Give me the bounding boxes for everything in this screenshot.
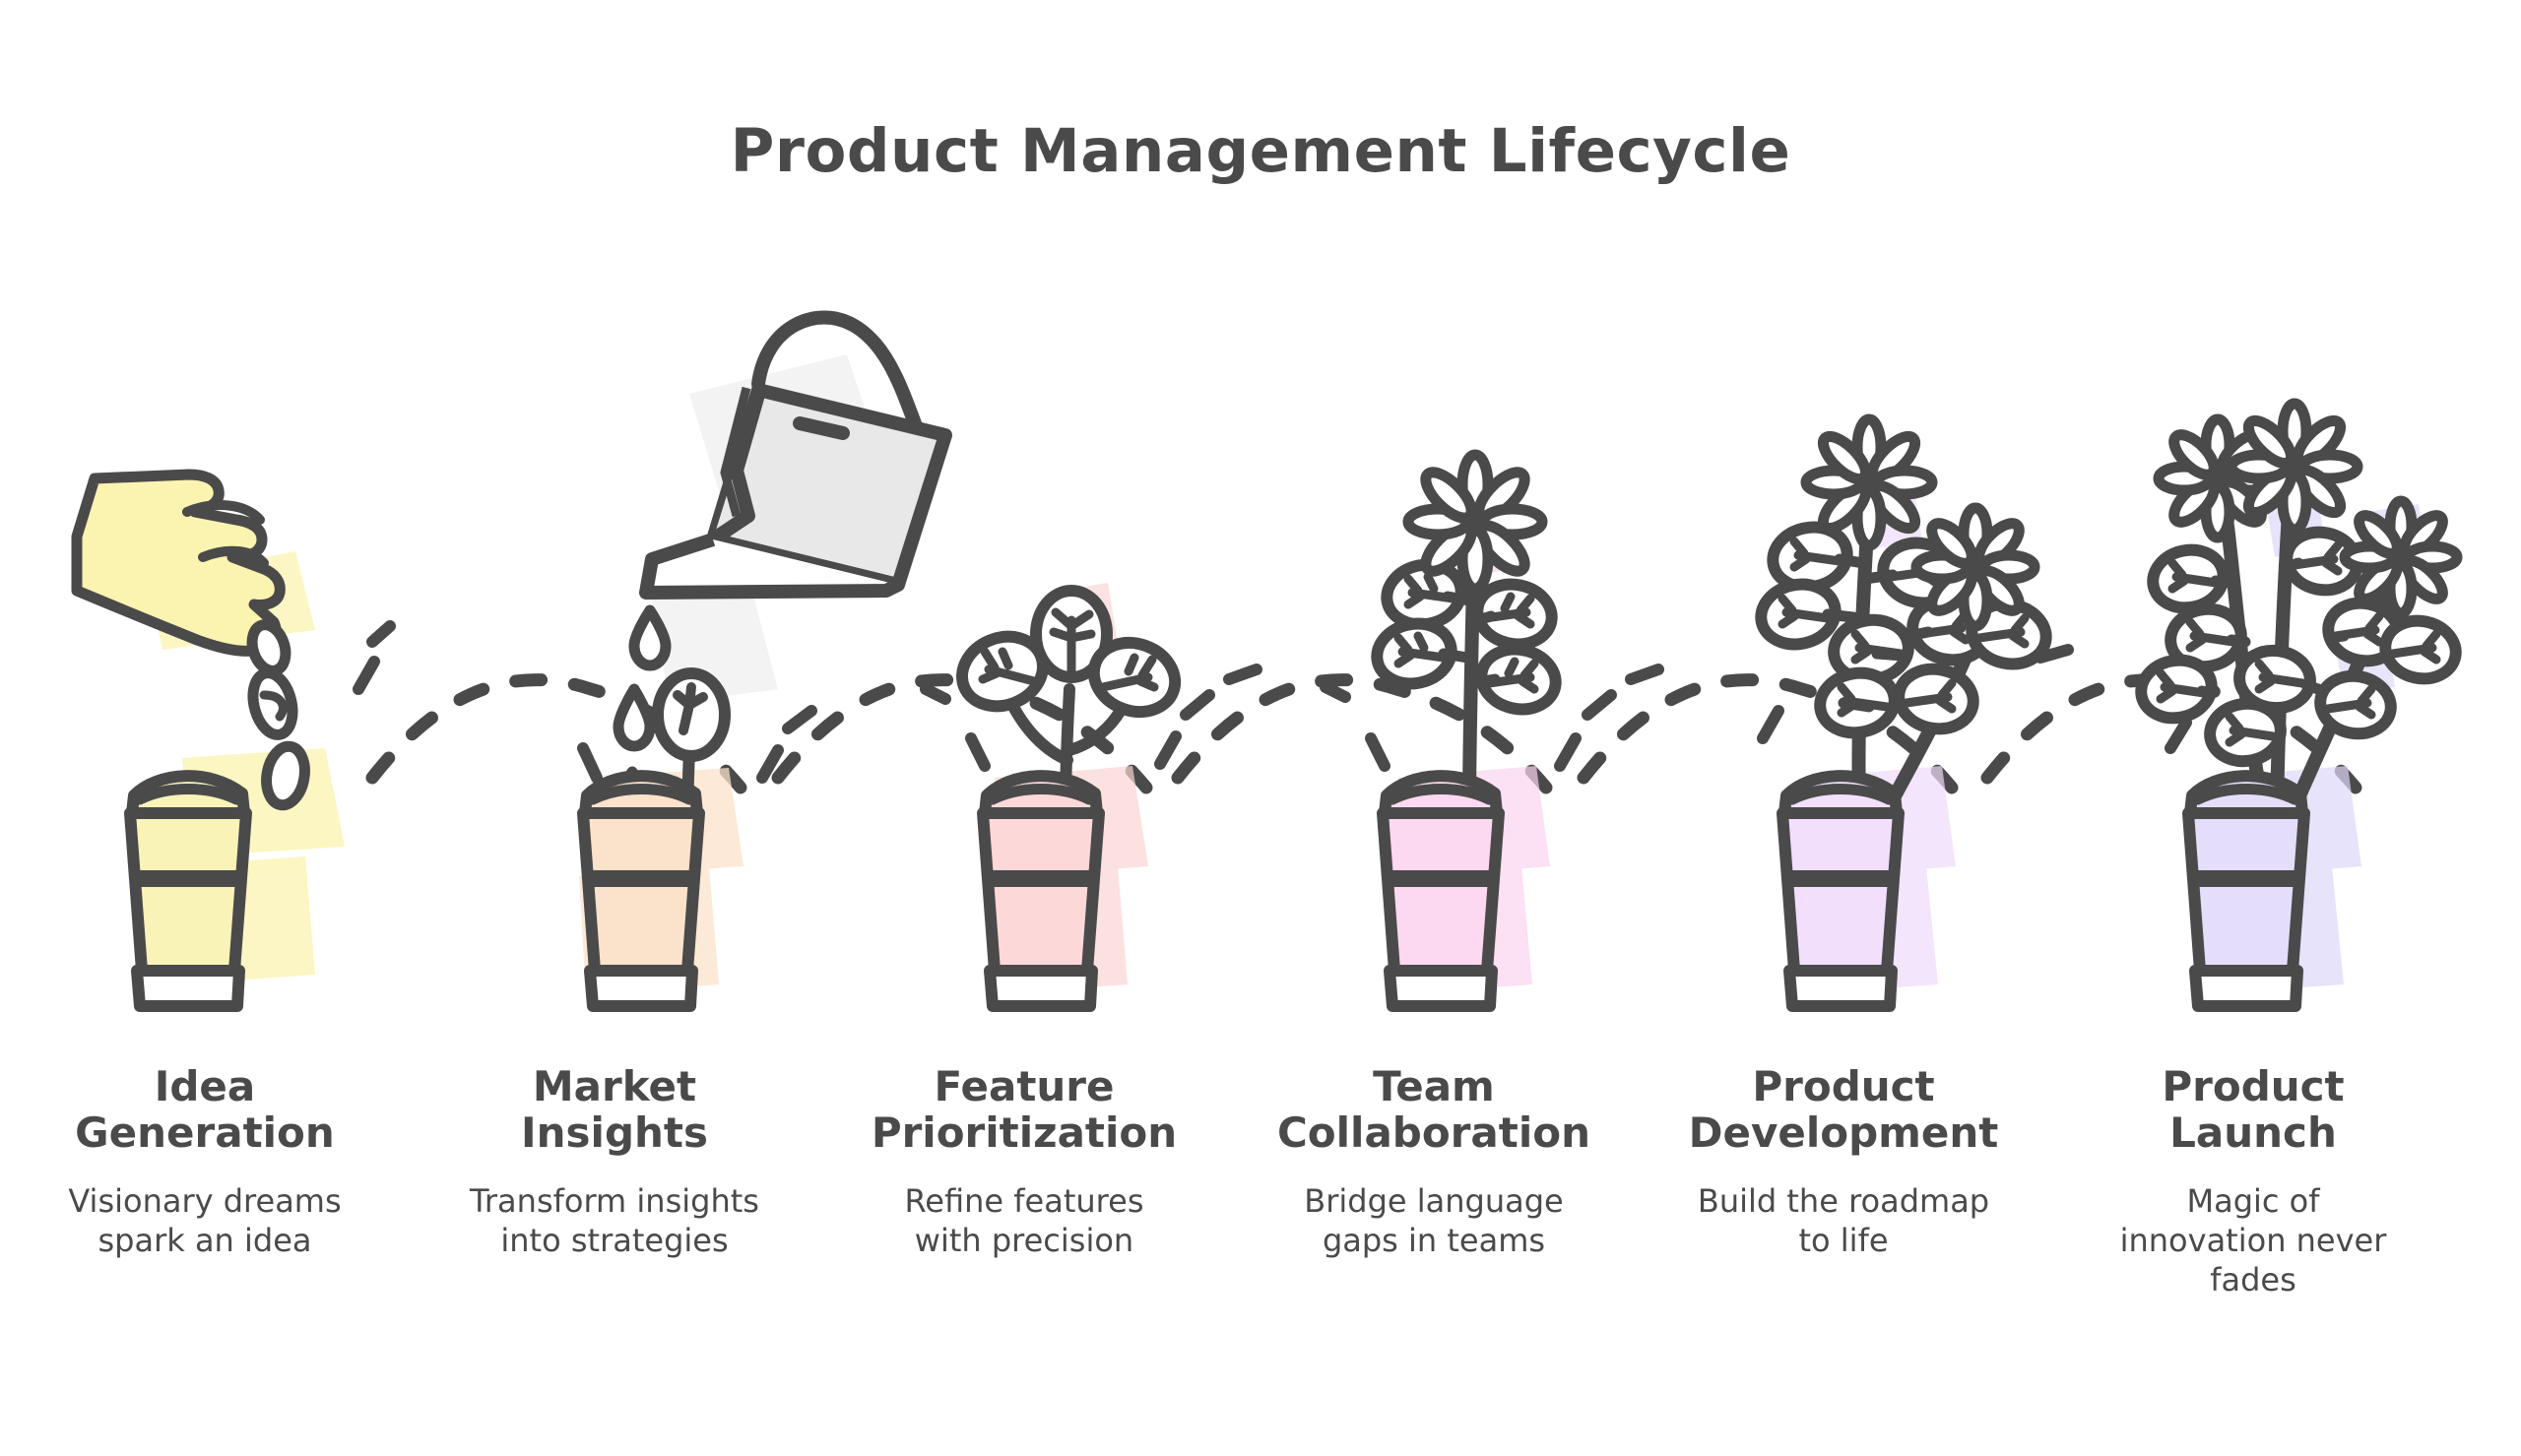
pot-1 <box>130 776 246 1006</box>
stage-description-1: Visionary dreams spark an idea <box>14 1181 396 1260</box>
stage-title-5: Product Development <box>1652 1063 2035 1156</box>
stage-label-4: Team Collaboration Bridge language gaps … <box>1229 1063 1639 1299</box>
stage-description-4: Bridge language gaps in teams <box>1243 1181 1625 1260</box>
pot-3 <box>983 776 1099 1006</box>
flower-icon <box>1408 455 1542 589</box>
stage-6-sparkles <box>2170 723 2186 748</box>
stage-3-illustration <box>926 583 1257 1006</box>
pot-4 <box>1383 776 1499 1006</box>
stage-description-3: Refine features with precision <box>833 1181 1215 1260</box>
stage-label-2: Market Insights Transform insights into … <box>410 1063 819 1299</box>
stage-title-6: Product Launch <box>2062 1063 2444 1156</box>
stage-2-illustration <box>579 318 945 1007</box>
stage-label-1: Idea Generation Visionary dreams spark a… <box>0 1063 410 1299</box>
pot-2 <box>583 776 699 1006</box>
watering-can-icon <box>646 318 945 594</box>
plant-6 <box>2136 404 2461 807</box>
stage-5-illustration <box>1756 419 2068 1006</box>
stage-labels: Idea Generation Visionary dreams spark a… <box>0 1063 2521 1299</box>
stage-title-3: Feature Prioritization <box>833 1063 1215 1156</box>
stage-label-6: Product Launch Magic of innovation never… <box>2048 1063 2458 1299</box>
plant-4 <box>1372 455 1562 807</box>
stage-label-3: Feature Prioritization Refine features w… <box>819 1063 1229 1299</box>
stage-description-6: Magic of innovation never fades <box>2062 1181 2444 1299</box>
pot-5 <box>1782 776 1899 1006</box>
stage-title-4: Team Collaboration <box>1243 1063 1625 1156</box>
stage-1-sparkles <box>358 626 390 689</box>
stage-title-2: Market Insights <box>423 1063 806 1156</box>
stage-6-illustration <box>2136 404 2461 1006</box>
pot-6 <box>2188 776 2304 1006</box>
stage-title-1: Idea Generation <box>14 1063 396 1156</box>
stage-label-5: Product Development Build the roadmap to… <box>1639 1063 2048 1299</box>
stage-description-2: Transform insights into strategies <box>423 1181 806 1260</box>
plant-5 <box>1756 419 2052 807</box>
stage-description-5: Build the roadmap to life <box>1652 1181 2035 1260</box>
stage-1-illustration <box>77 475 390 1006</box>
